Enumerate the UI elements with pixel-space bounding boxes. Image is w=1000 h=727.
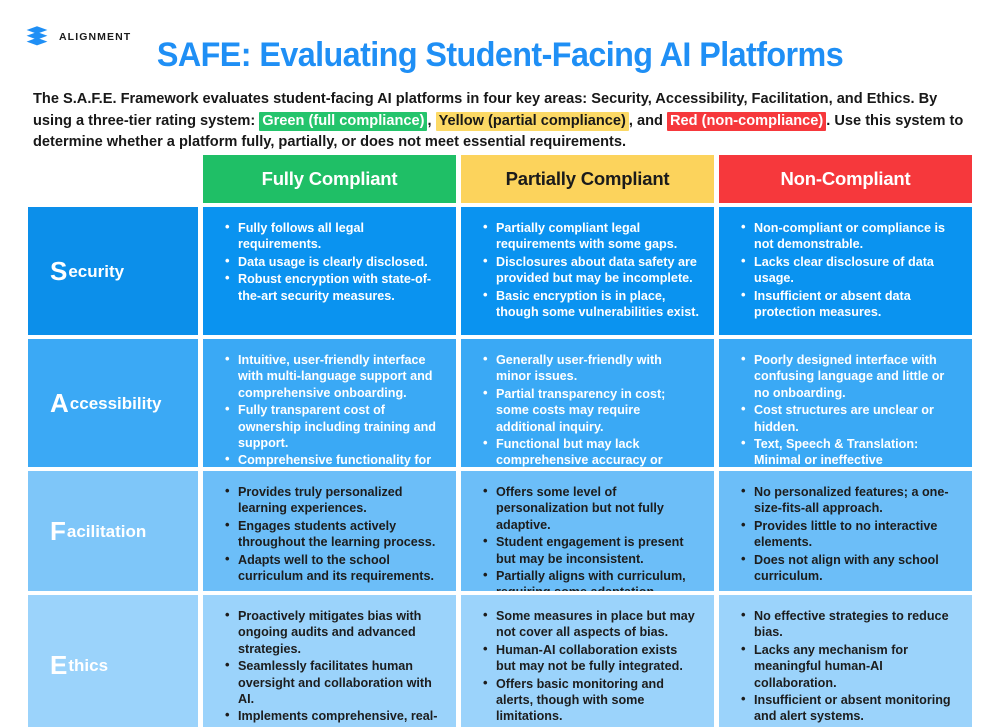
- bullet-list: Offers some level of personalization but…: [461, 471, 714, 591]
- list-item: Provides truly personalized learning exp…: [225, 484, 442, 517]
- list-item: Some measures in place but may not cover…: [483, 608, 700, 641]
- cell-accessibility-fully-compliant: Intuitive, user-friendly interface with …: [203, 339, 456, 467]
- row-label-ethics-rest: thics: [67, 657, 108, 674]
- bullet-list: Poorly designed interface with confusing…: [719, 339, 972, 467]
- list-item: Lacks clear disclosure of data usage.: [741, 254, 958, 287]
- page-title: SAFE: Evaluating Student-Facing AI Platf…: [25, 36, 975, 75]
- list-item: Proactively mitigates bias with ongoing …: [225, 608, 442, 657]
- bullet-list: Intuitive, user-friendly interface with …: [203, 339, 456, 467]
- intro-separator-2: , and: [629, 113, 667, 129]
- highlight-yellow-partial-compliance: Yellow (partial compliance): [436, 112, 629, 131]
- infographic-page: ALIGNMENT SAFE: Evaluating Student-Facin…: [0, 0, 1000, 727]
- bullet-list: Partially compliant legal requirements w…: [461, 207, 714, 329]
- list-item: Partially compliant legal requirements w…: [483, 220, 700, 253]
- column-header-fully-compliant: Fully Compliant: [203, 155, 456, 203]
- column-header-non-compliant: Non-Compliant: [719, 155, 972, 203]
- cell-facilitation-partially-compliant: Offers some level of personalization but…: [461, 471, 714, 591]
- cell-facilitation-fully-compliant: Provides truly personalized learning exp…: [203, 471, 456, 591]
- list-item: Basic encryption is in place, though som…: [483, 288, 700, 321]
- list-item: Functional but may lack comprehensive ac…: [483, 436, 700, 467]
- list-item: Partial transparency in cost; some costs…: [483, 386, 700, 435]
- row-label-security-rest: ecurity: [67, 263, 124, 280]
- list-item: Disclosures about data safety are provid…: [483, 254, 700, 287]
- list-item: Student engagement is present but may be…: [483, 534, 700, 567]
- list-item: Insufficient or absent data protection m…: [741, 288, 958, 321]
- list-item: Seamlessly facilitates human oversight a…: [225, 658, 442, 707]
- cell-security-non-compliant: Non-compliant or compliance is not demon…: [719, 207, 972, 335]
- row-label-facilitation: Facilitation: [28, 471, 198, 591]
- bullet-list: Fully follows all legal requirements. Da…: [203, 207, 456, 313]
- list-item: Partially aligns with curriculum, requir…: [483, 568, 700, 591]
- matrix-corner-blank: [28, 155, 198, 203]
- list-item: No personalized features; a one-size-fit…: [741, 484, 958, 517]
- list-item: Fully follows all legal requirements.: [225, 220, 442, 253]
- row-label-accessibility: Accessibility: [28, 339, 198, 467]
- column-header-partially-compliant: Partially Compliant: [461, 155, 714, 203]
- cell-ethics-non-compliant: No effective strategies to reduce bias. …: [719, 595, 972, 727]
- cell-facilitation-non-compliant: No personalized features; a one-size-fit…: [719, 471, 972, 591]
- highlight-red-non-compliance: Red (non-compliance): [667, 112, 826, 131]
- list-item: No effective strategies to reduce bias.: [741, 608, 958, 641]
- row-label-accessibility-initial: A: [50, 390, 69, 416]
- row-label-accessibility-rest: ccessibility: [69, 395, 162, 412]
- list-item: Fully transparent cost of ownership incl…: [225, 402, 442, 451]
- bullet-list: Some measures in place but may not cover…: [461, 595, 714, 727]
- bullet-list: No personalized features; a one-size-fit…: [719, 471, 972, 591]
- list-item: Data usage is clearly disclosed.: [225, 254, 442, 270]
- safe-framework-matrix: Fully Compliant Partially Compliant Non-…: [28, 155, 972, 725]
- list-item: Robust encryption with state-of-the-art …: [225, 271, 442, 304]
- list-item: Generally user-friendly with minor issue…: [483, 352, 700, 385]
- bullet-list: Generally user-friendly with minor issue…: [461, 339, 714, 467]
- row-label-security-initial: S: [50, 258, 67, 284]
- row-label-security: Security: [28, 207, 198, 335]
- list-item: Comprehensive functionality for text, sp…: [225, 452, 442, 467]
- bullet-list: Non-compliant or compliance is not demon…: [719, 207, 972, 329]
- intro-separator-1: ,: [427, 113, 435, 129]
- bullet-list: Proactively mitigates bias with ongoing …: [203, 595, 456, 727]
- list-item: Does not align with any school curriculu…: [741, 552, 958, 585]
- cell-accessibility-partially-compliant: Generally user-friendly with minor issue…: [461, 339, 714, 467]
- cell-accessibility-non-compliant: Poorly designed interface with confusing…: [719, 339, 972, 467]
- cell-ethics-partially-compliant: Some measures in place but may not cover…: [461, 595, 714, 727]
- row-label-ethics: Ethics: [28, 595, 198, 727]
- list-item: Insufficient or absent monitoring and al…: [741, 692, 958, 725]
- list-item: Poorly designed interface with confusing…: [741, 352, 958, 401]
- cell-ethics-fully-compliant: Proactively mitigates bias with ongoing …: [203, 595, 456, 727]
- list-item: Human-AI collaboration exists but may no…: [483, 642, 700, 675]
- bullet-list: Provides truly personalized learning exp…: [203, 471, 456, 591]
- bullet-list: No effective strategies to reduce bias. …: [719, 595, 972, 727]
- row-label-facilitation-rest: acilitation: [66, 523, 146, 540]
- list-item: Offers basic monitoring and alerts, thou…: [483, 676, 700, 725]
- list-item: Provides little to no interactive elemen…: [741, 518, 958, 551]
- cell-security-partially-compliant: Partially compliant legal requirements w…: [461, 207, 714, 335]
- list-item: Intuitive, user-friendly interface with …: [225, 352, 442, 401]
- list-item: Cost structures are unclear or hidden.: [741, 402, 958, 435]
- list-item: Lacks any mechanism for meaningful human…: [741, 642, 958, 691]
- list-item: Offers some level of personalization but…: [483, 484, 700, 533]
- row-label-ethics-initial: E: [50, 652, 67, 678]
- list-item: Engages students actively throughout the…: [225, 518, 442, 551]
- highlight-green-full-compliance: Green (full compliance): [259, 112, 427, 131]
- list-item: Non-compliant or compliance is not demon…: [741, 220, 958, 253]
- row-label-facilitation-initial: F: [50, 518, 66, 544]
- list-item: Adapts well to the school curriculum and…: [225, 552, 442, 585]
- intro-paragraph: The S.A.F.E. Framework evaluates student…: [33, 89, 973, 154]
- cell-security-fully-compliant: Fully follows all legal requirements. Da…: [203, 207, 456, 335]
- list-item: Implements comprehensive, real-time moni…: [225, 708, 442, 727]
- list-item: Text, Speech & Translation: Minimal or i…: [741, 436, 958, 467]
